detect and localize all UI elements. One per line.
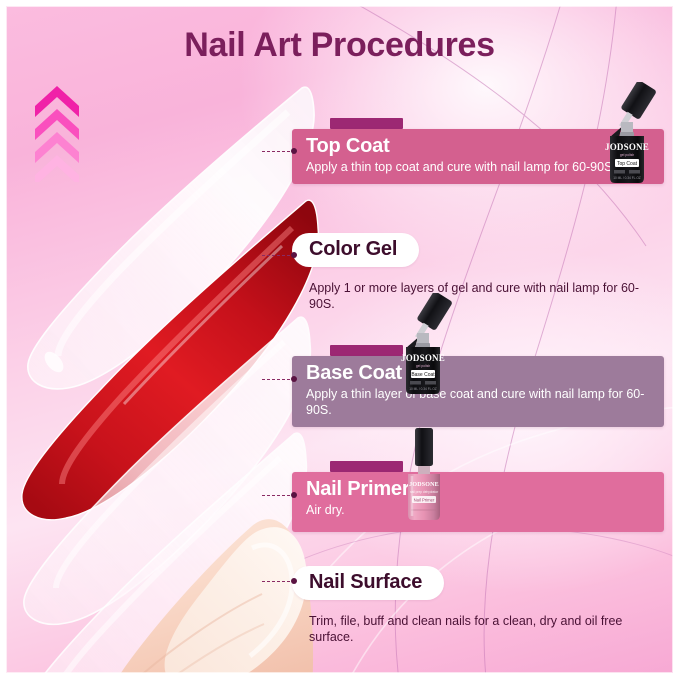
connector-line: [262, 495, 290, 496]
step-label-base-coat: Base Coat: [306, 363, 650, 385]
connector-dot: [291, 252, 297, 258]
svg-text:nail prep dehydrator: nail prep dehydrator: [410, 490, 439, 494]
step-banner-nail-primer: Nail Primer Air dry.: [292, 472, 664, 532]
connector-top-coat: [262, 144, 302, 158]
connector-base-coat: [262, 372, 302, 386]
step-tab-top-coat: [330, 118, 403, 129]
step-description-color-gel: Apply 1 or more layers of gel and cure w…: [309, 280, 664, 313]
nail-art-procedures-poster: Nail Art Procedures Top Coat Apply a thi…: [0, 0, 679, 679]
svg-text:Top Coat: Top Coat: [617, 161, 638, 167]
step-label-color-gel: Color Gel: [292, 233, 419, 267]
svg-text:JODSONE: JODSONE: [401, 353, 445, 363]
connector-line: [262, 255, 290, 256]
connector-dot: [291, 148, 297, 154]
step-label-nail-surface: Nail Surface: [292, 566, 444, 600]
step-base-coat[interactable]: Base Coat Apply a thin layer of base coa…: [292, 356, 664, 427]
step-description-nail-primer: Air dry.: [306, 502, 650, 518]
step-nail-surface[interactable]: Nail Surface Trim, file, buff and clean …: [292, 566, 664, 646]
bottle-base-coat: JODSONE gel polish Base Coat 10 ML / 0.3…: [392, 293, 454, 397]
svg-text:Nail Primer: Nail Primer: [414, 498, 435, 503]
step-label-nail-primer: Nail Primer: [306, 479, 650, 501]
step-banner-base-coat: Base Coat Apply a thin layer of base coa…: [292, 356, 664, 427]
svg-text:JODSONE: JODSONE: [409, 482, 439, 488]
bottle-nail-primer: JODSONE nail prep dehydrator Nail Primer: [396, 426, 452, 524]
connector-dot: [291, 492, 297, 498]
svg-text:JODSONE: JODSONE: [605, 142, 649, 152]
connector-line: [262, 581, 290, 582]
connector-nail-surface: [262, 574, 302, 588]
connector-dot: [291, 578, 297, 584]
step-description-nail-surface: Trim, file, buff and clean nails for a c…: [309, 613, 664, 646]
connector-line: [262, 379, 290, 380]
page-title: Nail Art Procedures: [0, 26, 679, 65]
bottle-top-coat: JODSONE gel polish Top Coat 10 ML / 0.34…: [596, 82, 658, 186]
upward-chevron-stack-icon: [33, 84, 81, 182]
svg-text:Base Coat: Base Coat: [411, 372, 435, 378]
svg-text:10 ML / 0.34 FL.OZ: 10 ML / 0.34 FL.OZ: [409, 387, 437, 391]
step-color-gel[interactable]: Color Gel Apply 1 or more layers of gel …: [292, 233, 664, 313]
connector-line: [262, 151, 290, 152]
connector-nail-primer: [262, 488, 302, 502]
step-description-base-coat: Apply a thin layer of base coat and cure…: [306, 386, 650, 419]
svg-text:10 ML / 0.34 FL.OZ: 10 ML / 0.34 FL.OZ: [613, 176, 641, 180]
step-nail-primer[interactable]: Nail Primer Air dry.: [292, 472, 664, 532]
svg-text:gel polish: gel polish: [620, 153, 634, 157]
svg-text:gel polish: gel polish: [416, 364, 430, 368]
step-tab-nail-primer: [330, 461, 403, 472]
connector-color-gel: [262, 248, 302, 262]
connector-dot: [291, 376, 297, 382]
